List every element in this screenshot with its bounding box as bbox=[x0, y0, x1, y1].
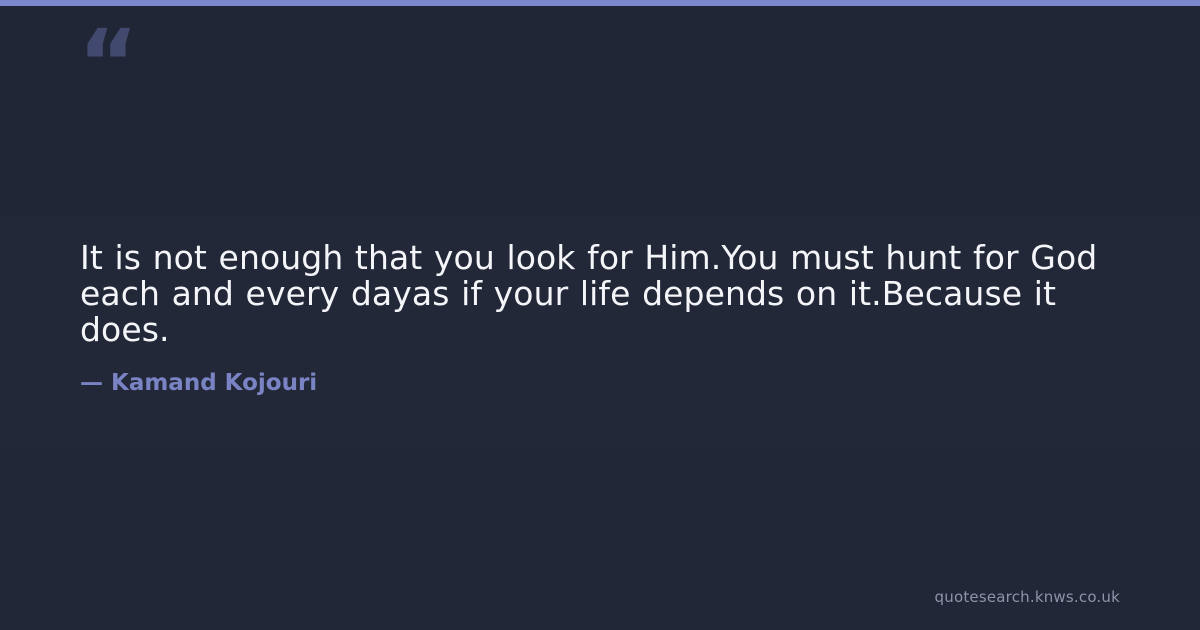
attribution-dash: — bbox=[80, 369, 103, 397]
top-accent-bar bbox=[0, 0, 1200, 6]
footer-site-url[interactable]: quotesearch.knws.co.uk bbox=[935, 588, 1120, 606]
quote-content: It is not enough that you look for Him.Y… bbox=[80, 240, 1140, 397]
attribution-author-name: Kamand Kojouri bbox=[111, 369, 317, 397]
quote-text: It is not enough that you look for Him.Y… bbox=[80, 240, 1140, 348]
quotation-mark-icon: “ bbox=[78, 18, 136, 110]
quote-attribution: —Kamand Kojouri bbox=[80, 348, 1140, 397]
quote-card: “ It is not enough that you look for Him… bbox=[0, 0, 1200, 630]
